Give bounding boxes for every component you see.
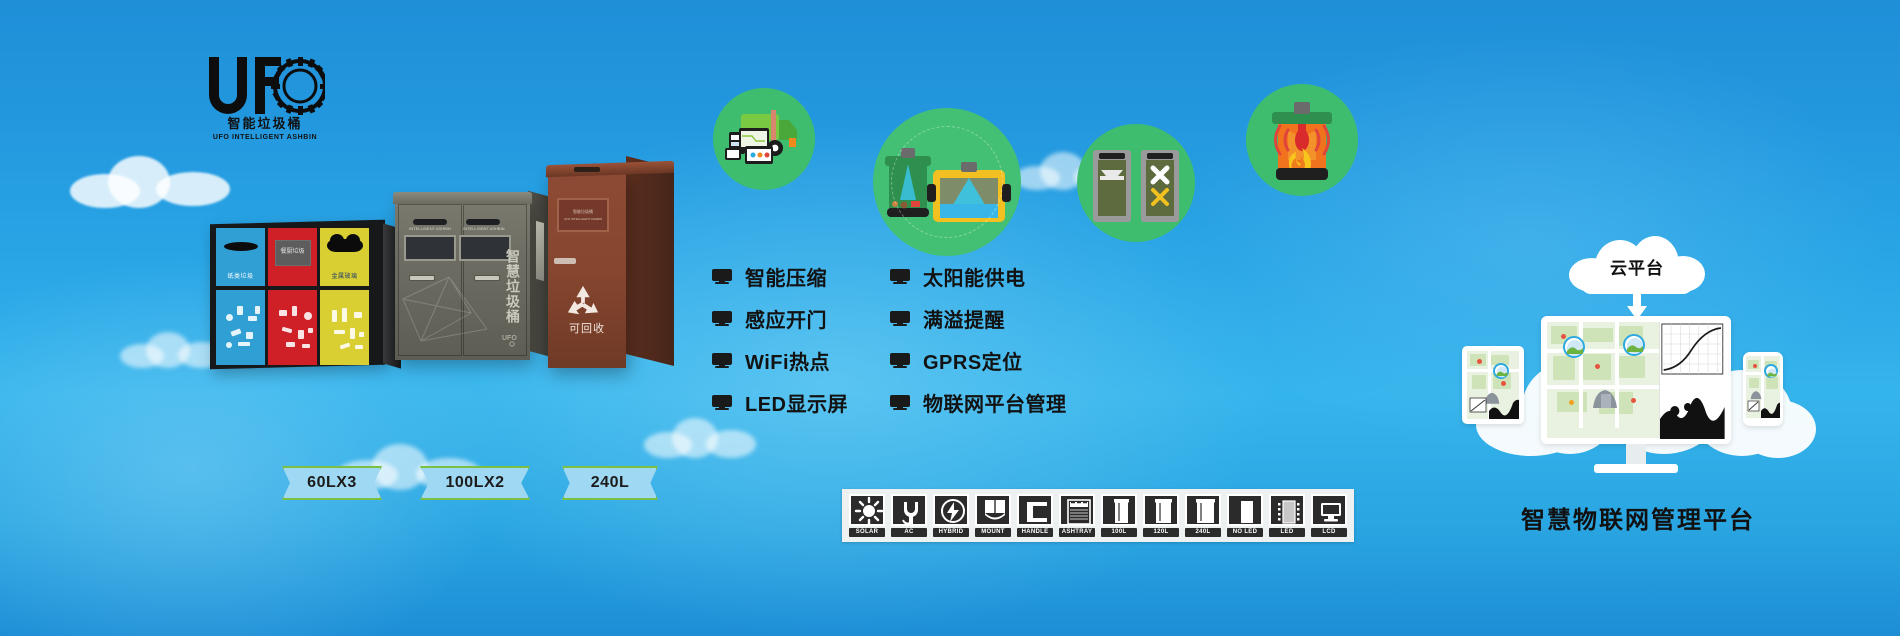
tablet-map-bubble [1493, 363, 1509, 379]
capacity-label-60lx3: 60LX3 [307, 474, 357, 492]
waste-pictograms-metal-glass [326, 296, 363, 359]
spec-item-mount[interactable]: MOUNT [975, 494, 1011, 537]
capacity-label-100lx2: 100LX2 [445, 474, 504, 492]
bin-240l-icon [1185, 494, 1221, 526]
ufo-mini-icon: UFO [502, 331, 522, 347]
triple-bin-compartment-paper: 纸类垃圾 [216, 228, 265, 365]
feature-label: WiFi热点 [745, 346, 830, 375]
capacity-ribbon-240l: 240L [562, 466, 658, 500]
compartment-top-paper: 纸类垃圾 [216, 228, 265, 286]
spec-label: 120L [1143, 528, 1179, 537]
waste-pictograms-kitchen [274, 296, 311, 359]
product-brown-bin[interactable]: 智能垃圾桶 UFO INTELLIGENT ASHBIN 可回收 [548, 172, 626, 368]
compartment-top-kitchen: 餐厨垃圾 [268, 228, 317, 286]
monitor-neck [1626, 444, 1646, 466]
feature-item-solar-power: 太阳能供电 [890, 262, 1067, 291]
spec-label: LED [1269, 528, 1305, 537]
growth-line-chart [1660, 322, 1725, 380]
phone-map [1746, 356, 1780, 418]
led-strip-icon-2 [466, 219, 500, 225]
led-strip-icon [413, 219, 447, 225]
feature-circle-waste-compaction [1077, 124, 1195, 242]
cloud-platform-label: 云平台 [1569, 254, 1705, 279]
bin-100l-icon [1101, 494, 1137, 526]
feature-circle-fleet-dispatch [713, 88, 815, 190]
ashtray-icon [1059, 494, 1095, 526]
chart-panel [1659, 322, 1725, 438]
feature-label: GPRS定位 [923, 346, 1023, 375]
phone-chart [1747, 400, 1780, 418]
desktop-monitor[interactable] [1541, 316, 1731, 444]
tablet-chart [1469, 397, 1519, 419]
garbage-truck-icon [713, 88, 815, 190]
feature-column-right: 太阳能供电 满溢提醒 GPRS定位 物联网平台管理 [890, 262, 1067, 417]
spec-label: SOLAR [849, 528, 885, 537]
brown-panel-subtext: UFO INTELLIGENT ASHBIN [559, 217, 607, 221]
feature-label: 物联网平台管理 [923, 388, 1067, 417]
no-led-icon [1227, 494, 1263, 526]
monitor-icon [890, 353, 910, 368]
feature-item-led-display: LED显示屏 [712, 388, 848, 417]
monitor-icon [890, 269, 910, 284]
display-screen-left [404, 235, 456, 261]
brown-panel-text: 智能垃圾桶 [559, 209, 607, 215]
cloud-platform-illustration: 云平台 [1456, 236, 1816, 526]
double-bin-vent [536, 221, 544, 281]
hybrid-bolt-icon [933, 494, 969, 526]
spec-item-ac[interactable]: AC [891, 494, 927, 537]
recycle-icon [564, 284, 602, 318]
feature-item-sensor-door: 感应开门 [712, 304, 848, 333]
spec-item-100l[interactable]: 100L [1101, 494, 1137, 537]
cloud-decor-1 [60, 150, 240, 210]
sun-icon [849, 494, 885, 526]
cloud-decor-3 [640, 416, 760, 460]
spec-item-120l[interactable]: 120L [1143, 494, 1179, 537]
spec-label: LCD [1311, 528, 1347, 537]
lcd-screen-icon [1311, 494, 1347, 526]
feature-circle-fire-alarm [1246, 84, 1358, 196]
recycle-label: 可回收 [548, 320, 626, 336]
platform-title: 智慧物联网管理平台 [1438, 500, 1838, 535]
compactor-bins-icon [1077, 124, 1195, 242]
feature-label: 智能压缩 [745, 262, 827, 291]
handle-icon [1017, 494, 1053, 526]
oval-slot-icon [224, 242, 258, 251]
cloud-slot-icon [327, 239, 363, 252]
svg-text:UFO: UFO [502, 335, 517, 342]
double-bin-vertical-text: 智慧垃圾桶 [504, 249, 520, 324]
spec-item-240l[interactable]: 240L [1185, 494, 1221, 537]
monitor-screen [1547, 322, 1725, 438]
spec-label: MOUNT [975, 528, 1011, 537]
product-double-smart-bin[interactable]: INTELLIGENT ASHBIN INTELLIGENT ASHBIN 智慧… [395, 198, 530, 360]
monitor-icon [712, 353, 732, 368]
spec-label: HYBRID [933, 528, 969, 537]
brown-bin-face: 智能垃圾桶 UFO INTELLIGENT ASHBIN 可回收 [548, 172, 626, 368]
monitor-icon [712, 395, 732, 410]
monitor-base [1594, 464, 1678, 473]
led-panel-icon [1269, 494, 1305, 526]
spec-label: NO LED [1227, 528, 1263, 537]
spec-item-handle[interactable]: HANDLE [1017, 494, 1053, 537]
monitor-icon [890, 311, 910, 326]
spec-item-hybrid[interactable]: HYBRID [933, 494, 969, 537]
brown-bin-led-strip [574, 167, 600, 172]
spec-label: AC [891, 528, 927, 537]
spec-label: 240L [1185, 528, 1221, 537]
monitor-icon [890, 395, 910, 410]
feature-item-wifi-hotspot: WiFi热点 [712, 346, 848, 375]
compartment-graphic-metal-glass [320, 290, 369, 365]
fire-alarm-bin-icon [1246, 84, 1358, 196]
spec-item-ashtray[interactable]: ASHTRAY [1059, 494, 1095, 537]
feature-item-overflow-alert: 满溢提醒 [890, 304, 1067, 333]
compartment-label-paper: 纸类垃圾 [216, 271, 265, 280]
ufo-ring-icon [205, 55, 325, 117]
compartment-top-metal-glass: 金属玻璃 [320, 228, 369, 286]
capacity-ribbon-60lx3: 60LX3 [282, 466, 382, 500]
compartment-label-kitchen: 餐厨垃圾 [280, 246, 304, 255]
double-bin-door-left[interactable]: INTELLIGENT ASHBIN [398, 204, 462, 356]
feature-item-smart-compaction: 智能压缩 [712, 262, 848, 291]
capacity-label-240l: 240L [591, 474, 629, 492]
tablet-map [1467, 351, 1519, 419]
monitor-icon [712, 311, 732, 326]
compartment-graphic-paper [216, 290, 265, 365]
feature-label: 满溢提醒 [923, 304, 1005, 333]
feature-item-gprs-location: GPRS定位 [890, 346, 1067, 375]
spec-label: HANDLE [1017, 528, 1053, 537]
door-subtext-left: INTELLIGENT ASHBIN [409, 226, 451, 231]
feature-item-iot-platform: 物联网平台管理 [890, 388, 1067, 417]
dashed-ring-decor [891, 126, 1003, 238]
feature-label: 太阳能供电 [923, 262, 1026, 291]
wall-mount-icon [975, 494, 1011, 526]
double-bin-cap [393, 192, 532, 204]
spec-item-solar[interactable]: SOLAR [849, 494, 885, 537]
monitor-icon [712, 269, 732, 284]
triple-bin-compartment-kitchen: 餐厨垃圾 [268, 228, 317, 365]
triple-bin-compartment-metal-glass: 金属玻璃 [320, 228, 369, 365]
promo-banner: 智能垃圾桶 UFO INTELLIGENT ASHBIN 纸类垃圾 [0, 0, 1900, 636]
brand-english-tagline: UFO INTELLIGENT ASHBIN [199, 134, 331, 141]
spec-icon-strip: SOLAR AC HYBRID [842, 489, 1354, 542]
area-chart [1660, 385, 1725, 439]
feature-circle-fill-level-sensing [873, 108, 1021, 256]
tablet-device[interactable] [1462, 346, 1524, 424]
spec-label: 100L [1101, 528, 1137, 537]
door-subtext-right: INTELLIGENT ASHBIN [463, 226, 505, 231]
map-panel [1547, 322, 1659, 438]
smartphone-device[interactable] [1743, 352, 1783, 426]
building-icon [1587, 374, 1623, 410]
waste-pictograms-paper [222, 296, 259, 359]
spec-item-lcd[interactable]: LCD [1311, 494, 1347, 537]
bin-120l-icon [1143, 494, 1179, 526]
brown-bin-display-panel: 智能垃圾桶 UFO INTELLIGENT ASHBIN [557, 198, 609, 232]
compartment-graphic-kitchen [268, 290, 317, 365]
spec-item-no-led[interactable]: NO LED [1227, 494, 1263, 537]
plug-icon [891, 494, 927, 526]
feature-label: LED显示屏 [745, 388, 848, 417]
double-bin-door-right[interactable]: INTELLIGENT ASHBIN 智慧垃圾桶 UFO [463, 204, 527, 356]
compartment-label-metal-glass: 金属玻璃 [320, 271, 369, 280]
feature-list: 智能压缩 感应开门 WiFi热点 LED显示屏 太阳能供电 满溢提醒 [712, 262, 1067, 417]
cloud-label-shape: 云平台 [1569, 236, 1705, 294]
phone-map-bubble [1764, 364, 1778, 378]
feature-column-left: 智能压缩 感应开门 WiFi热点 LED显示屏 [712, 262, 848, 417]
spec-item-led[interactable]: LED [1269, 494, 1305, 537]
brown-bin-card-slot[interactable] [554, 258, 576, 264]
product-triple-bin[interactable]: 纸类垃圾 餐厨垃圾 [210, 222, 385, 367]
brand-chinese-name: 智能垃圾桶 [205, 117, 325, 130]
spec-label: ASHTRAY [1059, 528, 1095, 537]
feature-label: 感应开门 [745, 304, 827, 333]
capacity-ribbon-100lx2: 100LX2 [420, 466, 530, 500]
map-bubble-2 [1623, 334, 1645, 356]
card-slot-right[interactable] [474, 275, 500, 281]
brown-bin-side [626, 156, 674, 366]
map-bubble-1 [1563, 336, 1585, 358]
brand-logo: 智能垃圾桶 UFO INTELLIGENT ASHBIN [205, 55, 325, 150]
